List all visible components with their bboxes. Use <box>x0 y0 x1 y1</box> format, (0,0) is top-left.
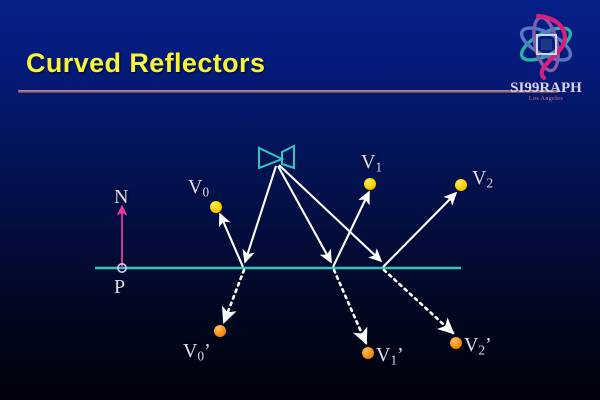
reflected-ray-0 <box>220 214 243 267</box>
reflected-ray-2 <box>383 193 456 267</box>
mirrored-point-v0p-dot <box>214 325 226 337</box>
label-v1-prime: V1’ <box>376 344 404 369</box>
incident-ray-1 <box>278 166 331 262</box>
virtual-ray-0 <box>224 270 244 322</box>
label-point-p: P <box>114 276 125 299</box>
virtual-ray-1 <box>334 270 366 343</box>
virtual-point-v1-dot <box>364 178 376 190</box>
mirrored-point-v2p-dot <box>450 337 462 349</box>
label-v0-prime: V0’ <box>183 340 211 365</box>
camera-icon <box>259 146 294 168</box>
label-v0: V0 <box>188 176 209 201</box>
incident-ray-0 <box>245 166 276 262</box>
mirrored-point-v1p-dot <box>362 347 374 359</box>
label-v2: V2 <box>472 167 493 192</box>
virtual-point-v2-dot <box>455 179 467 191</box>
virtual-point-v0-dot <box>210 201 222 213</box>
reflected-ray-1 <box>333 192 369 267</box>
slide-canvas: Curved Reflectors SI99RAPH Los Angeles <box>0 0 600 400</box>
label-normal-n: N <box>114 186 128 209</box>
label-v2-prime: V2’ <box>464 334 492 359</box>
ray-diagram <box>0 0 600 400</box>
virtual-ray-2 <box>384 270 453 333</box>
label-v1: V1 <box>361 151 382 176</box>
